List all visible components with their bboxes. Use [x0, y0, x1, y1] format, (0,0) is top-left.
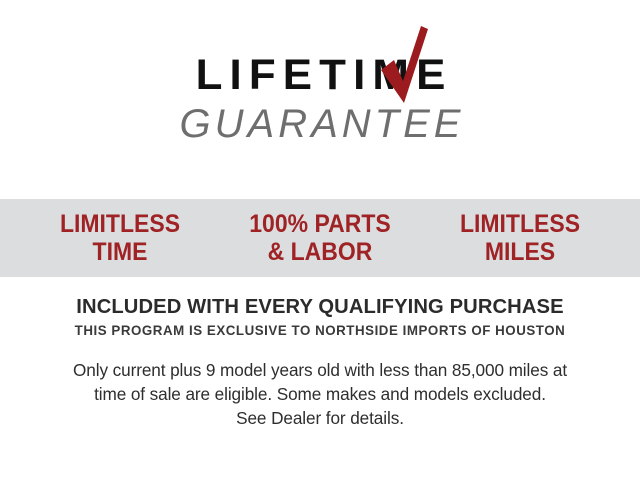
logo-lockup: LIFETIME GUARANTEE — [176, 54, 465, 144]
subheadline: THIS PROGRAM IS EXCLUSIVE TO NORTHSIDE I… — [6, 324, 633, 339]
feature-column-limitless-miles: LIMITLESS MILES — [428, 210, 612, 266]
feature-band: LIMITLESS TIME 100% PARTS & LABOR LIMITL… — [0, 199, 640, 277]
logo-block: LIFETIME GUARANTEE — [0, 54, 640, 144]
feature-line-1: LIMITLESS — [60, 210, 180, 238]
feature-line-2: & LABOR — [228, 238, 412, 266]
fine-print-line: time of sale are eligible. Some makes an… — [0, 382, 640, 406]
feature-line-1: LIMITLESS — [460, 210, 580, 238]
headline: INCLUDED WITH EVERY QUALIFYING PURCHASE — [5, 296, 635, 319]
fine-print: Only current plus 9 model years old with… — [0, 358, 640, 431]
lifetime-guarantee-ad: LIFETIME GUARANTEE LIMITLESS TIME 100% P… — [0, 0, 640, 480]
feature-line-2: TIME — [28, 238, 212, 266]
fine-print-line: Only current plus 9 model years old with… — [0, 358, 640, 382]
logo-word-lifetime: LIFETIME — [173, 54, 468, 97]
logo-word-guarantee: GUARANTEE — [176, 104, 465, 144]
feature-line-1: 100% PARTS — [249, 210, 390, 238]
fine-print-line: See Dealer for details. — [0, 406, 640, 430]
feature-line-2: MILES — [428, 238, 612, 266]
feature-column-parts-labor: 100% PARTS & LABOR — [228, 210, 412, 266]
copy-block: INCLUDED WITH EVERY QUALIFYING PURCHASE … — [0, 296, 640, 431]
feature-column-limitless-time: LIMITLESS TIME — [28, 210, 212, 266]
